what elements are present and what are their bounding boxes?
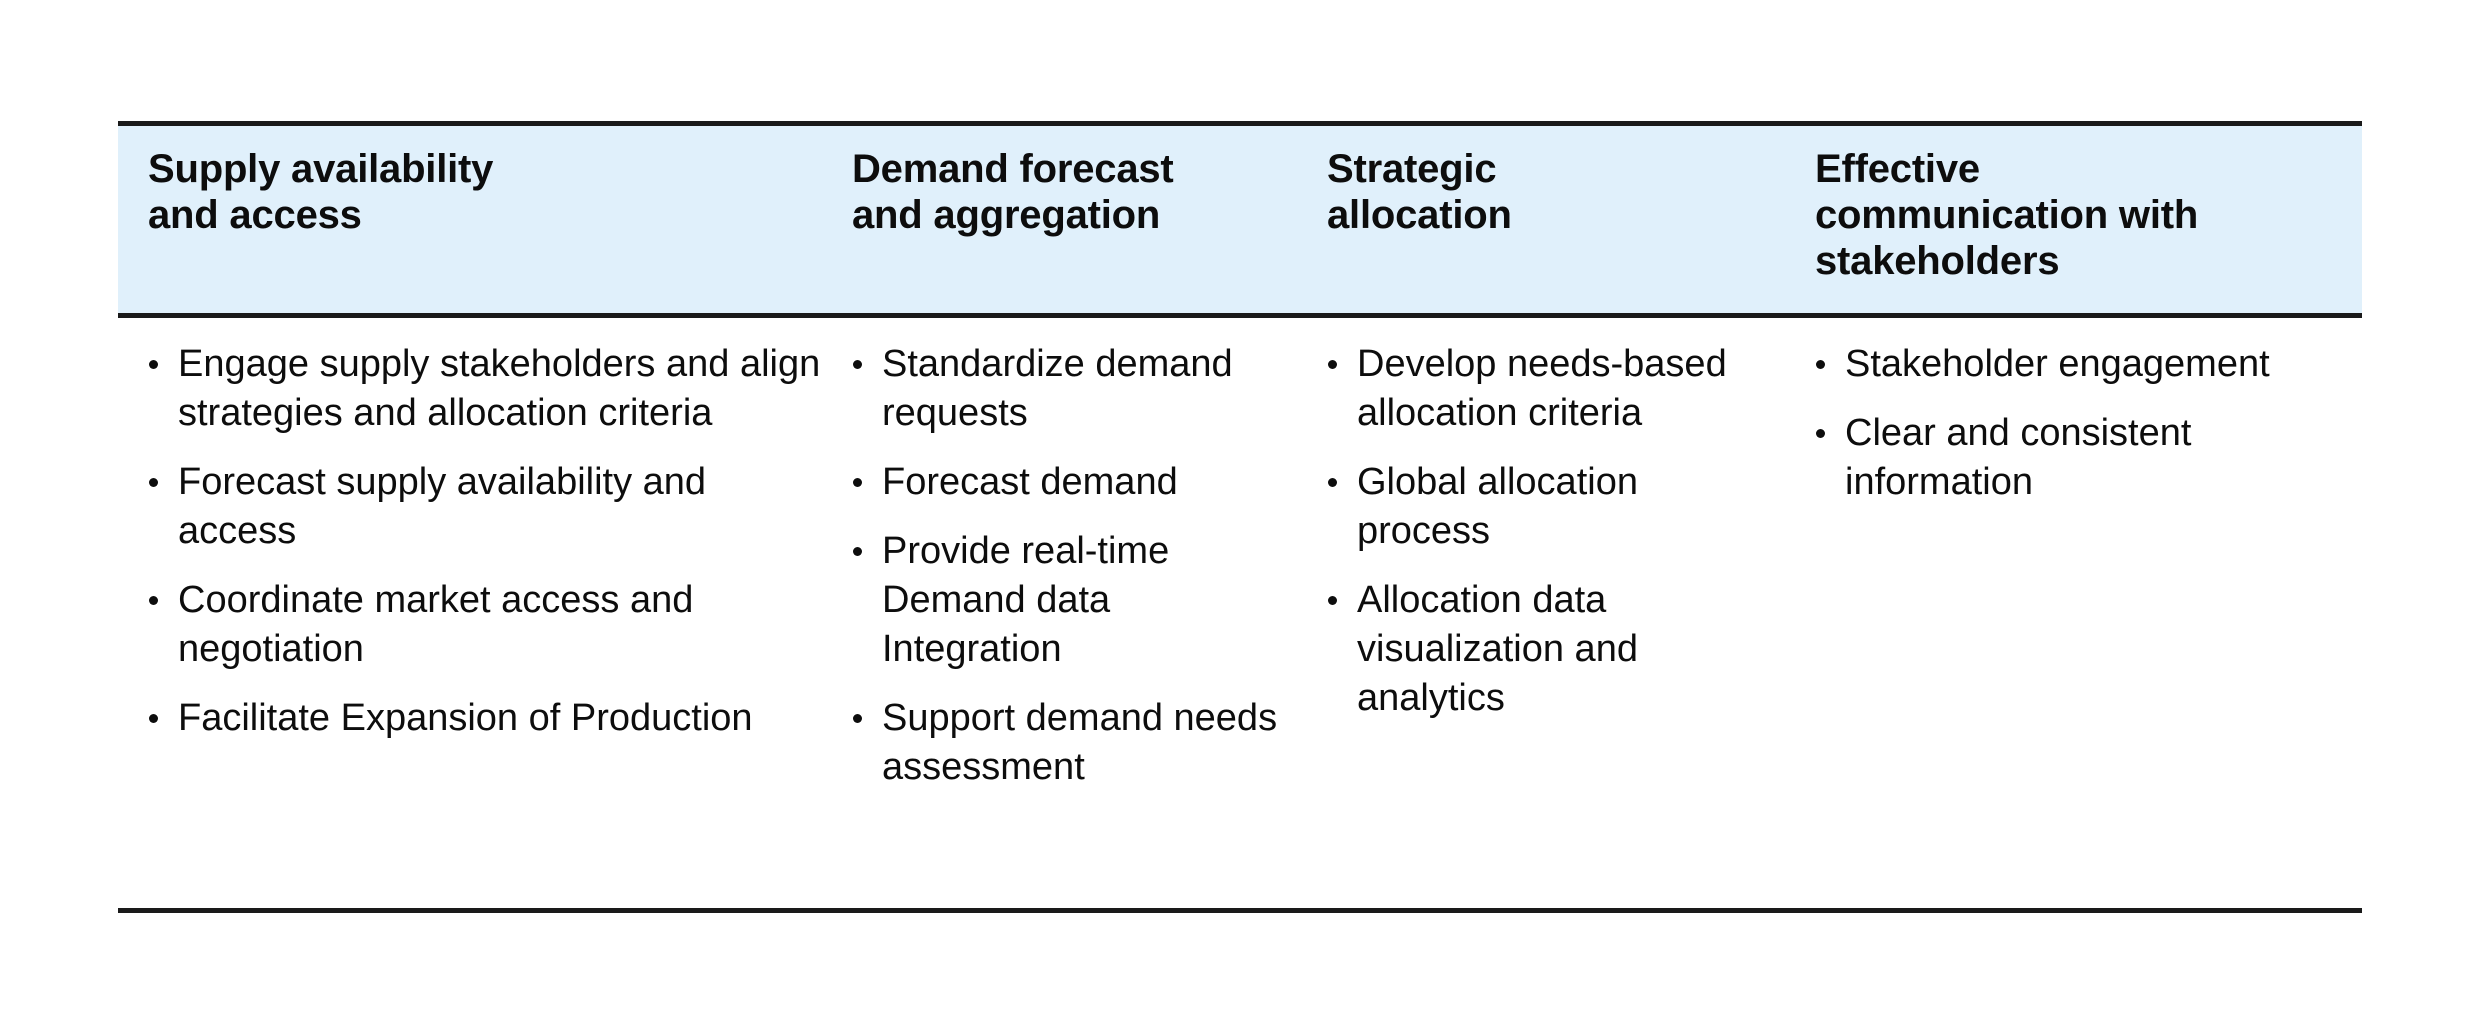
list-item-label: Develop needs-based allocation criteria — [1357, 343, 1727, 434]
list-item-label: Support demand needs assessment — [882, 697, 1277, 788]
list-item: Clear and consistent information — [1815, 409, 2305, 507]
list-item-label: Standardize demand requests — [882, 343, 1233, 434]
list-item: Forecast demand — [852, 458, 1282, 507]
bullet-list-column-3: Develop needs-based allocation criteria … — [1327, 340, 1801, 723]
list-item: Facilitate Expansion of Production — [148, 694, 834, 743]
list-item-label: Forecast demand — [882, 461, 1178, 503]
bullet-dot-icon — [853, 547, 862, 556]
column-header-strategic-allocation: Strategic allocation — [1327, 146, 1815, 313]
table-bottom-rule — [118, 908, 2362, 913]
bullet-dot-icon — [149, 478, 158, 487]
column-body-effective-communication-with-stakeholders: Stakeholder engagement Clear and consist… — [1815, 340, 2332, 908]
list-item: Stakeholder engagement — [1815, 340, 2305, 389]
bullet-dot-icon — [1816, 429, 1825, 438]
list-item: Support demand needs assessment — [852, 694, 1282, 792]
list-item-label: Allocation data visualization and analyt… — [1357, 579, 1638, 719]
bullet-dot-icon — [149, 360, 158, 369]
list-item-label: Forecast supply availability and access — [178, 461, 706, 552]
list-item: Forecast supply availability and access — [148, 458, 834, 556]
comparison-table: Supply availability and access Demand fo… — [118, 121, 2362, 913]
bullet-dot-icon — [853, 360, 862, 369]
table-header-row: Supply availability and access Demand fo… — [118, 126, 2362, 313]
column-body-strategic-allocation: Develop needs-based allocation criteria … — [1327, 340, 1815, 908]
list-item: Develop needs-based allocation criteria — [1327, 340, 1757, 438]
list-item: Coordinate market access and negotiation — [148, 576, 834, 674]
bullet-dot-icon — [149, 714, 158, 723]
list-item: Provide real-time Demand data Integratio… — [852, 527, 1282, 674]
bullet-list-column-2: Standardize demand requests Forecast dem… — [852, 340, 1313, 792]
bullet-dot-icon — [1816, 360, 1825, 369]
list-item: Engage supply stakeholders and align str… — [148, 340, 834, 438]
list-item: Standardize demand requests — [852, 340, 1282, 438]
bullet-dot-icon — [853, 478, 862, 487]
bullet-dot-icon — [1328, 360, 1337, 369]
bullet-dot-icon — [1328, 478, 1337, 487]
figure-root: Supply availability and access Demand fo… — [0, 0, 2480, 1028]
bullet-list-column-1: Engage supply stakeholders and align str… — [148, 340, 834, 743]
column-header-demand-forecast-and-aggregation: Demand forecast and aggregation — [852, 146, 1327, 313]
column-body-supply-availability-and-access: Engage supply stakeholders and align str… — [118, 340, 852, 908]
list-item-label: Engage supply stakeholders and align str… — [178, 343, 820, 434]
bullet-dot-icon — [149, 596, 158, 605]
list-item-label: Coordinate market access and negotiation — [178, 579, 693, 670]
list-item: Allocation data visualization and analyt… — [1327, 576, 1757, 723]
list-item-label: Stakeholder engagement — [1845, 343, 2270, 385]
bullet-list-column-4: Stakeholder engagement Clear and consist… — [1815, 340, 2318, 507]
list-item-label: Global allocation process — [1357, 461, 1638, 552]
list-item-label: Clear and consistent information — [1845, 412, 2191, 503]
table-body-row: Engage supply stakeholders and align str… — [118, 318, 2362, 908]
list-item-label: Provide real-time Demand data Integratio… — [882, 530, 1169, 670]
column-header-effective-communication-with-stakeholders: Effective communication with stakeholder… — [1815, 146, 2332, 313]
list-item: Global allocation process — [1327, 458, 1757, 556]
bullet-dot-icon — [1328, 596, 1337, 605]
list-item-label: Facilitate Expansion of Production — [178, 697, 753, 739]
column-header-supply-availability-and-access: Supply availability and access — [118, 146, 852, 313]
column-body-demand-forecast-and-aggregation: Standardize demand requests Forecast dem… — [852, 340, 1327, 908]
bullet-dot-icon — [853, 714, 862, 723]
